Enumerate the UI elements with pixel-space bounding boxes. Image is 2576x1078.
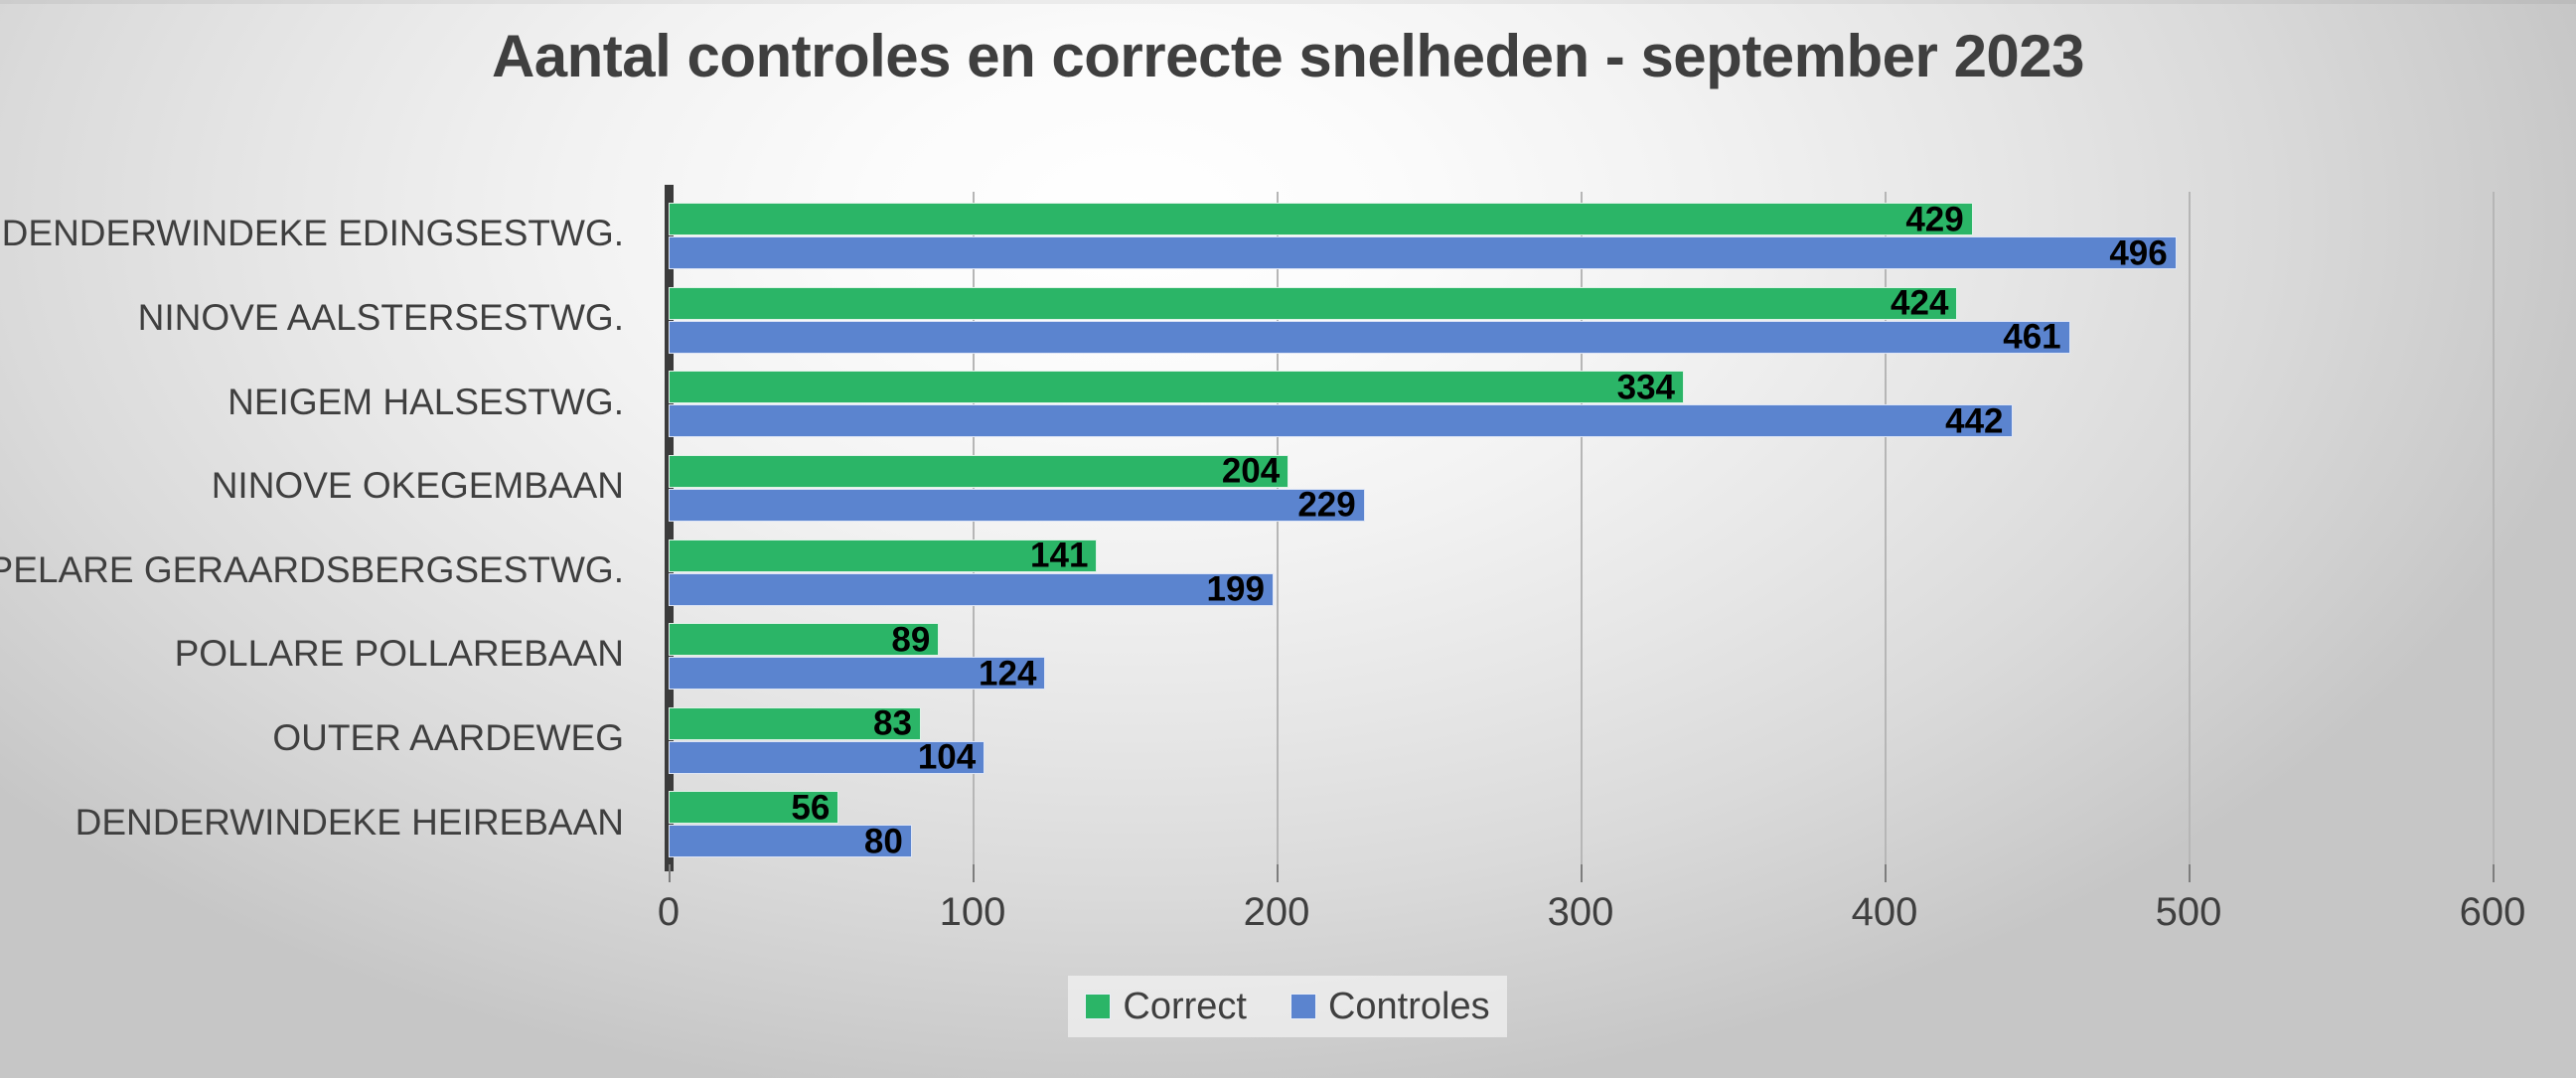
bar-controles[interactable]: 80 bbox=[669, 825, 912, 857]
bar-value-label: 83 bbox=[873, 706, 912, 741]
plot-area: 4294964244613344422042291411998912483104… bbox=[669, 192, 2493, 864]
category-label: NINOVE OKEGEMBAAN bbox=[0, 444, 646, 529]
category-label: NINOVE AALSTERSESTWG. bbox=[0, 276, 646, 361]
category-label: DENDERWINDEKE HEIREBAAN bbox=[0, 780, 646, 864]
bar-value-label: 104 bbox=[918, 740, 976, 775]
legend-item[interactable]: Controles bbox=[1290, 986, 1490, 1028]
bar-controles[interactable]: 199 bbox=[669, 573, 1274, 606]
bar-controles[interactable]: 496 bbox=[669, 236, 2177, 269]
chart-container: Aantal controles en correcte snelheden -… bbox=[0, 0, 2576, 1078]
bar-value-label: 56 bbox=[791, 790, 830, 825]
bar-correct[interactable]: 424 bbox=[669, 287, 1957, 320]
bar-value-label: 124 bbox=[979, 656, 1036, 691]
category-label: OUTER AARDEWEG bbox=[0, 696, 646, 781]
bar-controles[interactable]: 104 bbox=[669, 741, 985, 774]
chart-title: Aantal controles en correcte snelheden -… bbox=[0, 22, 2576, 90]
bar-value-label: 80 bbox=[864, 824, 903, 858]
xtick-mark bbox=[669, 864, 671, 882]
bar-value-label: 424 bbox=[1891, 286, 1948, 321]
bar-value-label: 429 bbox=[1905, 202, 1963, 236]
xtick-mark bbox=[1885, 864, 1887, 882]
bar-value-label: 442 bbox=[1945, 403, 2003, 438]
bar-value-label: 461 bbox=[2003, 320, 2060, 355]
chart-legend[interactable]: CorrectControles bbox=[1068, 976, 1507, 1037]
bar-group: 5680 bbox=[669, 780, 2493, 864]
bar-value-label: 496 bbox=[2109, 235, 2167, 270]
bar-groups: 4294964244613344422042291411998912483104… bbox=[669, 192, 2493, 864]
xtick-label: 400 bbox=[1852, 890, 1918, 935]
legend-label: Correct bbox=[1123, 986, 1247, 1028]
bar-controles[interactable]: 442 bbox=[669, 404, 2013, 437]
bar-value-label: 141 bbox=[1030, 539, 1088, 573]
bar-correct[interactable]: 141 bbox=[669, 539, 1097, 572]
bar-correct[interactable]: 204 bbox=[669, 455, 1288, 488]
bar-correct[interactable]: 56 bbox=[669, 791, 838, 824]
bar-group: 429496 bbox=[669, 192, 2493, 276]
gridline-600 bbox=[2493, 192, 2495, 864]
legend-swatch-icon bbox=[1085, 994, 1111, 1019]
bar-group: 334442 bbox=[669, 360, 2493, 444]
legend-item[interactable]: Correct bbox=[1085, 986, 1247, 1028]
category-label: DENDERWINDEKE EDINGSESTWG. bbox=[0, 192, 646, 276]
bar-value-label: 334 bbox=[1617, 370, 1675, 404]
xtick-label: 0 bbox=[658, 890, 680, 935]
bar-value-label: 204 bbox=[1222, 454, 1280, 489]
bar-group: 141199 bbox=[669, 529, 2493, 613]
xtick-label: 200 bbox=[1244, 890, 1310, 935]
legend-swatch-icon bbox=[1290, 994, 1316, 1019]
bar-correct[interactable]: 429 bbox=[669, 203, 1973, 235]
value-axis-ticks: 0100200300400500600 bbox=[669, 864, 2493, 884]
bar-correct[interactable]: 89 bbox=[669, 623, 939, 656]
bar-correct[interactable]: 334 bbox=[669, 371, 1684, 403]
xtick-label: 300 bbox=[1548, 890, 1614, 935]
xtick-label: 600 bbox=[2460, 890, 2526, 935]
xtick-mark bbox=[1581, 864, 1583, 882]
bar-group: 83104 bbox=[669, 696, 2493, 781]
category-label: NEIGEM HALSESTWG. bbox=[0, 360, 646, 444]
bar-value-label: 199 bbox=[1207, 572, 1265, 607]
xtick-mark bbox=[2189, 864, 2191, 882]
bar-controles[interactable]: 124 bbox=[669, 657, 1045, 690]
xtick-label: 100 bbox=[940, 890, 1006, 935]
category-label: POLLARE POLLAREBAAN bbox=[0, 612, 646, 696]
bar-controles[interactable]: 229 bbox=[669, 489, 1365, 522]
xtick-label: 500 bbox=[2156, 890, 2222, 935]
xtick-mark bbox=[1277, 864, 1279, 882]
category-label: ASPELARE GERAARDSBERGSESTWG. bbox=[0, 529, 646, 613]
bar-group: 89124 bbox=[669, 612, 2493, 696]
bar-value-label: 89 bbox=[891, 622, 930, 657]
legend-label: Controles bbox=[1328, 986, 1490, 1028]
bar-group: 424461 bbox=[669, 276, 2493, 361]
category-axis-labels: DENDERWINDEKE EDINGSESTWG.NINOVE AALSTER… bbox=[0, 192, 646, 864]
xtick-mark bbox=[2493, 864, 2495, 882]
bar-group: 204229 bbox=[669, 444, 2493, 529]
bar-correct[interactable]: 83 bbox=[669, 707, 921, 740]
xtick-mark bbox=[973, 864, 975, 882]
bar-controles[interactable]: 461 bbox=[669, 321, 2070, 354]
bar-value-label: 229 bbox=[1297, 488, 1355, 523]
